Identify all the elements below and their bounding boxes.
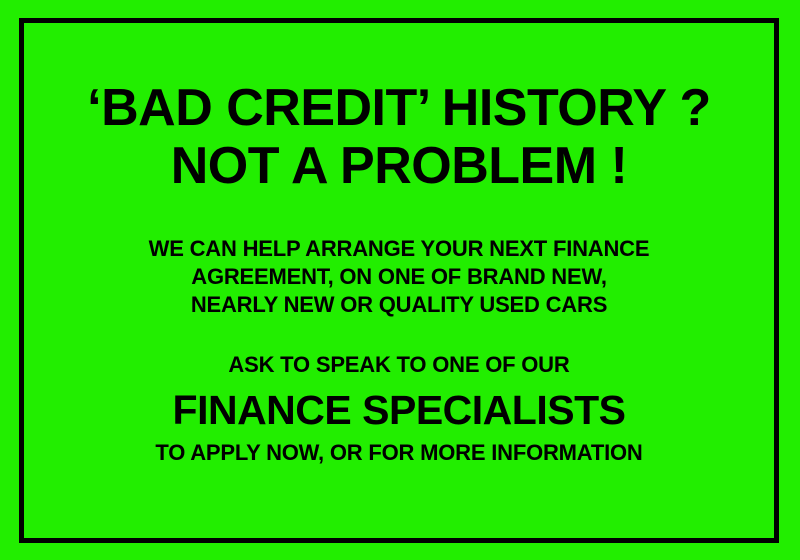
footer-line-1: TO APPLY NOW, OR FOR MORE INFORMATION [24, 439, 774, 467]
feature-block: FINANCE SPECIALISTS [24, 387, 774, 433]
body-line-3: NEARLY NEW OR QUALITY USED CARS [24, 291, 774, 319]
lead-line-1: ASK TO SPEAK TO ONE OF OUR [24, 351, 774, 379]
body-line-1: WE CAN HELP ARRANGE YOUR NEXT FINANCE [24, 235, 774, 263]
lead-block: ASK TO SPEAK TO ONE OF OUR [24, 351, 774, 379]
advert-poster: ‘BAD CREDIT’ HISTORY ? NOT A PROBLEM ! W… [0, 0, 800, 560]
body-line-2: AGREEMENT, ON ONE OF BRAND NEW, [24, 263, 774, 291]
body-block: WE CAN HELP ARRANGE YOUR NEXT FINANCE AG… [24, 235, 774, 319]
headline-block: ‘BAD CREDIT’ HISTORY ? NOT A PROBLEM ! [24, 80, 774, 194]
feature-headline: FINANCE SPECIALISTS [24, 387, 774, 433]
headline-line-1: ‘BAD CREDIT’ HISTORY ? [24, 80, 774, 136]
poster-content: ‘BAD CREDIT’ HISTORY ? NOT A PROBLEM ! W… [24, 23, 774, 538]
headline-line-2: NOT A PROBLEM ! [24, 138, 774, 194]
footer-block: TO APPLY NOW, OR FOR MORE INFORMATION [24, 439, 774, 467]
